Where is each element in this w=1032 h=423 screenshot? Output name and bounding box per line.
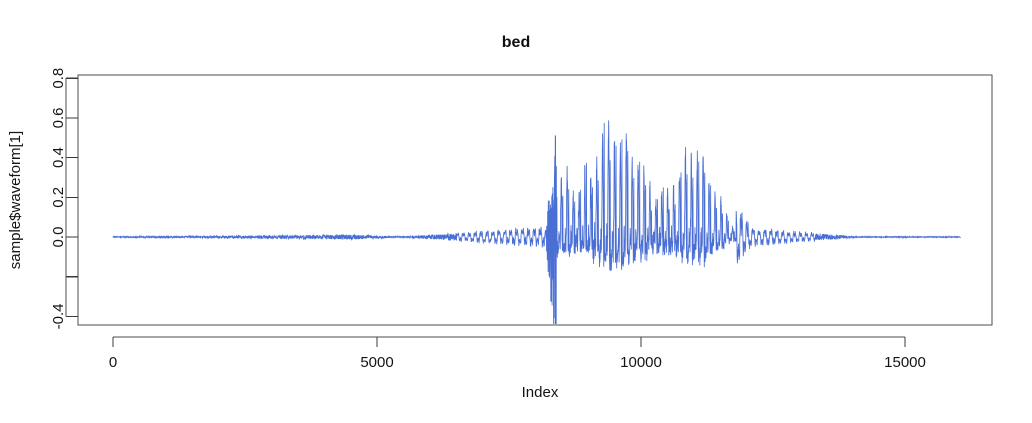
- x-axis-title: Index: [522, 384, 559, 401]
- y-tick-label: 0.2: [50, 187, 67, 208]
- plot-root: bed -0.40.00.20.40.60.8 050001000015000 …: [0, 0, 1032, 423]
- waveform-plot: bed -0.40.00.20.40.60.8 050001000015000 …: [0, 0, 1032, 423]
- y-tick-label: 0.0: [50, 227, 67, 248]
- y-tick-label: 0.8: [50, 68, 67, 89]
- y-tick-label: 0.4: [50, 147, 67, 168]
- x-tick-label: 0: [109, 354, 117, 371]
- page-title: bed: [502, 34, 530, 51]
- x-tick-label: 15000: [884, 354, 926, 371]
- x-tick-label: 5000: [360, 354, 393, 371]
- y-tick-label: -0.4: [50, 303, 67, 329]
- y-axis-title: sample$waveform[1]: [7, 131, 24, 269]
- plot-background: [0, 0, 1032, 423]
- x-tick-label: 10000: [620, 354, 662, 371]
- y-tick-label: 0.6: [50, 107, 67, 128]
